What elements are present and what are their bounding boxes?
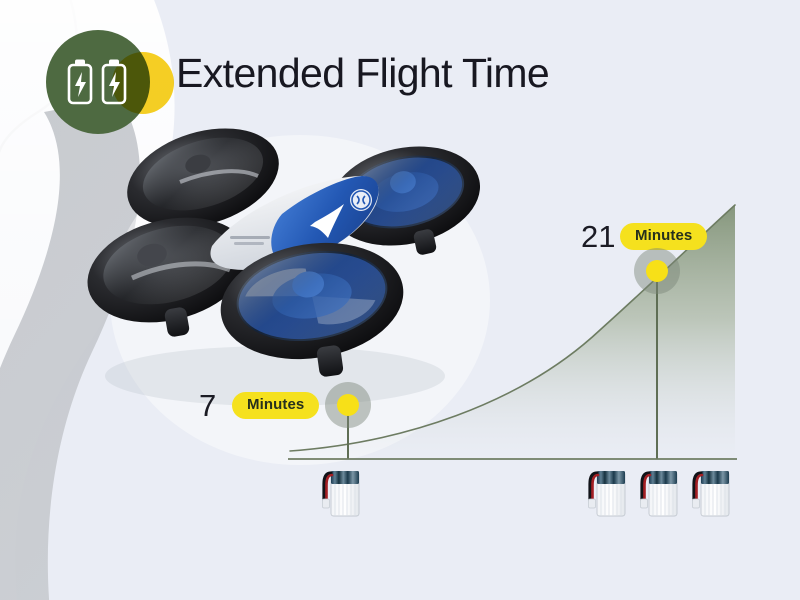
value-high: 21 (581, 221, 615, 252)
lipo-battery-icon (690, 466, 730, 518)
data-point-marker-high (634, 248, 680, 294)
battery-badge (46, 30, 172, 136)
value-low: 7 (199, 390, 216, 421)
lipo-battery-icon (320, 466, 360, 518)
double-battery-icon (66, 56, 128, 108)
lipo-battery-icon (638, 466, 678, 518)
data-point-marker-low (325, 382, 371, 428)
unit-pill-low: Minutes (232, 392, 319, 419)
marker-dot (646, 260, 668, 282)
infographic-canvas: 21 Minutes 7 Minutes Extended Flight Tim… (0, 0, 800, 600)
lipo-battery-icon (586, 466, 626, 518)
unit-pill-high: Minutes (620, 223, 707, 250)
marker-dot (337, 394, 359, 416)
drone-product-image (60, 118, 480, 410)
page-title: Extended Flight Time (176, 44, 549, 102)
